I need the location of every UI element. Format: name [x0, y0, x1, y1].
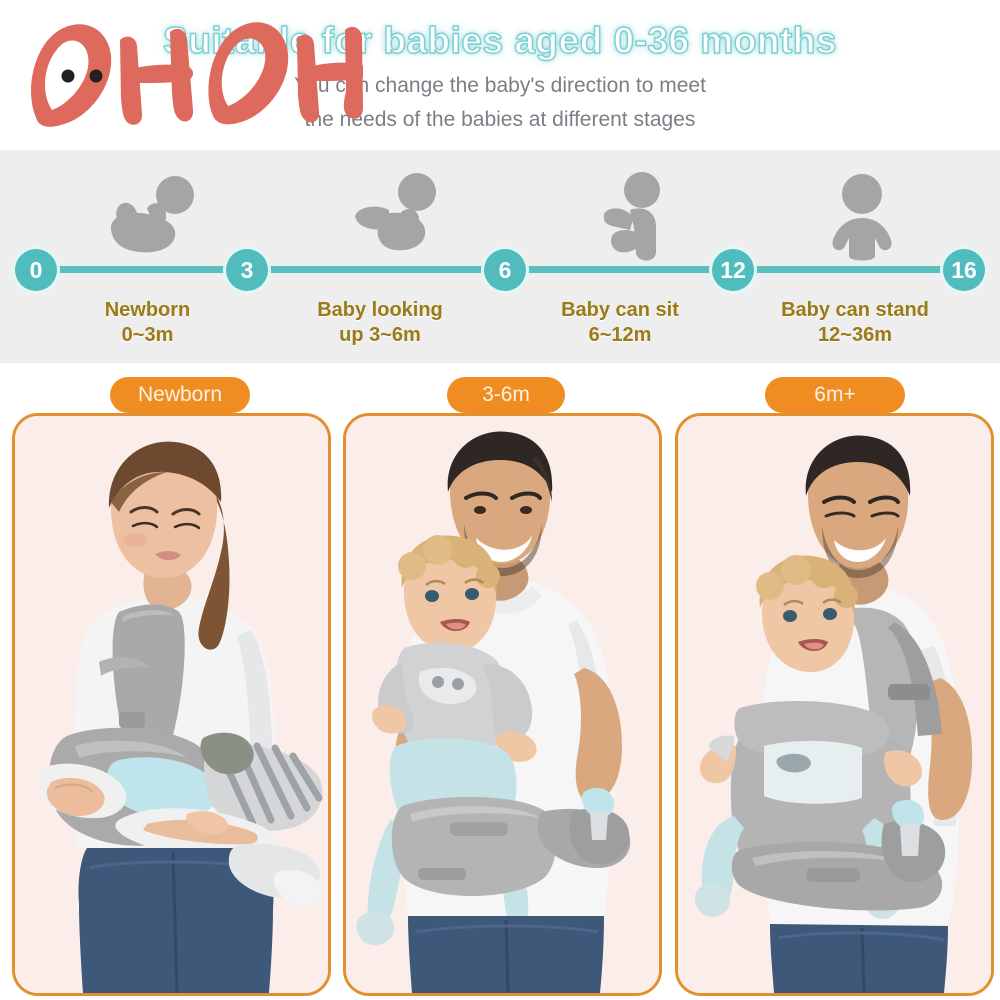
tab-6m-plus[interactable]: 6m+	[765, 377, 905, 413]
stage-range: 0~3m	[55, 323, 240, 348]
page-subline-2: the needs of the babies at different sta…	[0, 108, 1000, 132]
baby-lying-icon	[95, 172, 205, 257]
stage-title: Baby looking	[285, 298, 475, 323]
stage-caption-can-sit: Baby can sit 6~12m	[525, 298, 715, 348]
timeline-node-6: 6	[484, 249, 526, 291]
stage-range: 6~12m	[525, 323, 715, 348]
baby-reclining-icon	[345, 172, 455, 257]
timeline-node-16: 16	[943, 249, 985, 291]
photo-panel-6m-plus[interactable]	[675, 413, 994, 996]
stage-title: Baby can stand	[755, 298, 955, 323]
baby-standing-icon	[815, 172, 910, 262]
stage-caption-can-stand: Baby can stand 12~36m	[755, 298, 955, 348]
tab-3-6m[interactable]: 3-6m	[447, 377, 565, 413]
age-timeline: 0 3 6 12 16 Newborn 0~3m Baby looking up…	[0, 150, 1000, 363]
scene-father-toddler-frontcarrier	[678, 416, 991, 993]
timeline-node-0: 0	[15, 249, 57, 291]
stage-caption-newborn: Newborn 0~3m	[55, 298, 240, 348]
tab-newborn[interactable]: Newborn	[110, 377, 250, 413]
scene-father-toddler-hipseat	[346, 416, 659, 993]
stage-title: Newborn	[55, 298, 240, 323]
page-subline-1: You can change the baby's direction to m…	[0, 74, 1000, 98]
stage-range: 12~36m	[755, 323, 955, 348]
photo-panel-newborn[interactable]	[12, 413, 331, 996]
timeline-node-3: 3	[226, 249, 268, 291]
timeline-node-12: 12	[712, 249, 754, 291]
scene-mother-newborn-carrier	[15, 416, 328, 993]
page-headline: Suitable for babies aged 0-36 months	[0, 20, 1000, 62]
stage-title: Baby can sit	[525, 298, 715, 323]
stage-range: up 3~6m	[285, 323, 475, 348]
baby-sitting-icon	[590, 172, 690, 267]
header: Suitable for babies aged 0-36 months You…	[0, 0, 1000, 150]
photo-panel-3-6m[interactable]	[343, 413, 662, 996]
stage-caption-looking-up: Baby looking up 3~6m	[285, 298, 475, 348]
